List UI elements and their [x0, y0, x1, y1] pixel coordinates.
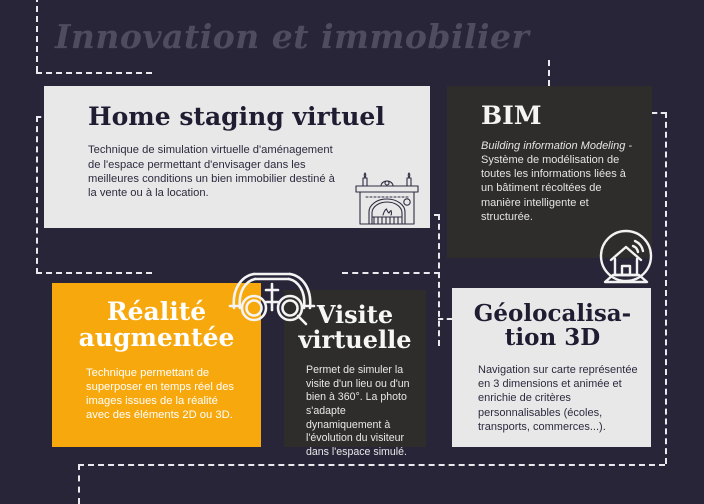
vr-goggles-icon	[228, 270, 316, 326]
card-geolocalisation-3d[interactable]: Géolocalisa-tion 3D Navigation sur carte…	[452, 288, 651, 447]
dashed-line-bottom-left-vertical	[78, 464, 80, 504]
dashed-line-upper-left-vertical	[36, 0, 38, 72]
dashed-line-bim-top	[548, 60, 552, 86]
dashed-line-middle-horizontal	[342, 272, 440, 274]
dashed-line-middle-vertical	[438, 214, 440, 346]
card-body: Technique permettant de superposer en te…	[70, 366, 243, 423]
dashed-line-upper-left-horizontal	[36, 72, 152, 74]
dashed-line-middle-tick-lower	[438, 318, 452, 320]
card-body: Navigation sur carte représentée en 3 di…	[466, 363, 639, 433]
card-title: BIM	[481, 103, 636, 129]
card-body-italic: Building information Modeling -	[481, 139, 636, 153]
dashed-line-bottom-horizontal	[78, 464, 665, 466]
card-body: Permet de simuler la visite d'un lieu ou…	[294, 364, 416, 459]
dashed-line-left-bottom	[36, 272, 152, 274]
card-body: Technique de simulation virtuelle d'amén…	[88, 143, 346, 200]
infographic-canvas: Innovation et immobilier Home staging vi…	[0, 0, 704, 501]
card-title: Réalité augmentée	[70, 299, 243, 352]
card-title: Géolocalisa-tion 3D	[466, 302, 639, 350]
card-body: Building information Modeling - Système …	[481, 139, 636, 223]
smart-home-icon	[593, 228, 659, 290]
page-title: Innovation et immobilier	[55, 17, 529, 56]
card-title: Home staging virtuel	[88, 104, 408, 130]
dashed-line-left-column	[36, 116, 38, 274]
fireplace-icon	[352, 172, 422, 227]
card-body-text: Système de modélisation de toutes les in…	[481, 154, 626, 222]
